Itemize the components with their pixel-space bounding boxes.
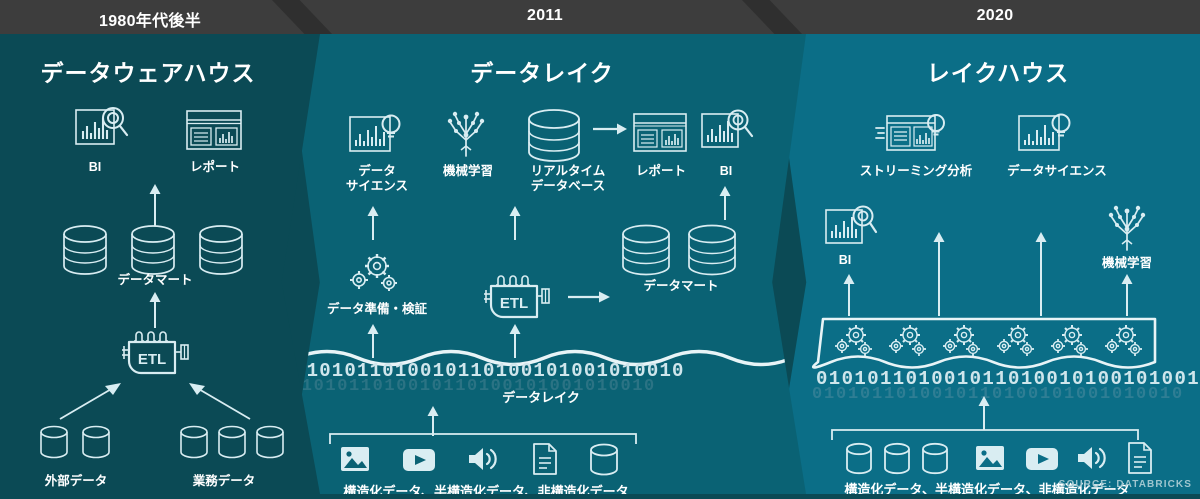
- label-data-science: データ サイエンス: [332, 164, 422, 194]
- panel-title-lakehouse: レイクハウス: [772, 54, 1200, 88]
- label-datamart: データマート: [623, 279, 739, 294]
- document-icon: [1127, 442, 1153, 474]
- etl-text: ETL: [500, 295, 528, 312]
- database-icon: [80, 424, 112, 462]
- streaming-dashboard-lightbulb-icon: [875, 112, 947, 158]
- arrow-up-icon: [842, 274, 856, 316]
- arrow-up-icon: [366, 206, 380, 240]
- arrow-up-icon: [148, 292, 162, 328]
- year-label-1980s: 1980年代後半: [0, 7, 300, 31]
- source-bracket: [830, 428, 1140, 440]
- database-icon: [178, 424, 210, 462]
- label-datamart: データマート: [95, 273, 215, 288]
- bi-chart-magnifier-icon: [73, 106, 129, 152]
- label-realtime-database: リアルタイム データベース: [513, 164, 623, 194]
- arrow-up-icon: [148, 184, 162, 226]
- arrow-up-icon: [1120, 274, 1134, 316]
- label-report: レポート: [622, 164, 700, 179]
- label-streaming-analytics: ストリーミング分析: [846, 164, 986, 179]
- panel-lakehouse: レイクハウス: [772, 34, 1200, 494]
- image-icon: [340, 446, 370, 472]
- label-bi: BI: [820, 253, 870, 268]
- bi-chart-magnifier-icon: [824, 204, 878, 250]
- arrow-up-icon: [977, 396, 991, 430]
- database-icon: [254, 424, 286, 462]
- neural-tree-icon: [1102, 204, 1152, 252]
- arrow-up-icon: [932, 232, 946, 316]
- audio-icon: [1075, 444, 1111, 472]
- etl-box-icon: ETL: [476, 272, 560, 326]
- database-icon: [844, 442, 874, 476]
- gears-icon: [344, 252, 406, 296]
- etl-text: ETL: [138, 351, 166, 368]
- arrow-right-icon: [568, 290, 610, 304]
- video-icon: [1025, 447, 1059, 471]
- source-attribution: SOURCE: DATABRICKS: [1059, 479, 1192, 490]
- database-cylinder-icon: [620, 224, 672, 276]
- arrow-diagonal-icon: [186, 379, 252, 421]
- video-icon: [402, 448, 436, 472]
- arrow-diagonal-icon: [58, 379, 124, 421]
- binary-row-2: 0101011010010110100101001010010: [812, 385, 1184, 404]
- database-cylinder-icon: [526, 108, 582, 162]
- arrow-up-icon: [508, 206, 522, 240]
- label-machine-learning: 機械学習: [1084, 256, 1170, 271]
- label-data-prep: データ準備・検証: [319, 302, 435, 317]
- database-icon: [38, 424, 70, 462]
- year-label-2020: 2020: [790, 7, 1200, 25]
- panel-data-lake: データレイク データ サイエンス: [286, 34, 806, 494]
- chart-lightbulb-icon: [348, 112, 404, 158]
- database-cylinder-icon: [686, 224, 738, 276]
- infographic-stage: 1980年代後半 2011 2020 データウェアハウス BI: [0, 0, 1200, 494]
- timeline-header: 1980年代後半 2011 2020: [0, 0, 1200, 34]
- database-cylinder-icon: [129, 224, 177, 276]
- neural-tree-icon: [440, 110, 492, 158]
- label-external-data: 外部データ: [23, 474, 129, 489]
- image-icon: [975, 445, 1005, 471]
- bi-chart-magnifier-icon: [700, 108, 754, 154]
- database-cylinder-icon: [197, 224, 245, 276]
- report-dashboard-icon: [185, 109, 243, 151]
- panel-title-data-warehouse: データウェアハウス: [0, 54, 320, 88]
- label-sources: 構造化データ、半構造化データ、非構造化データ: [306, 484, 666, 499]
- year-label-2011: 2011: [300, 7, 790, 25]
- document-icon: [532, 443, 558, 475]
- label-operational-data: 業務データ: [165, 474, 283, 489]
- label-bi: BI: [60, 160, 130, 175]
- arrow-right-icon: [593, 122, 627, 136]
- panel-title-data-lake: データレイク: [286, 54, 806, 88]
- report-dashboard-icon: [632, 112, 688, 154]
- arrow-up-icon: [1034, 232, 1048, 316]
- etl-box-icon: ETL: [113, 328, 199, 384]
- label-data-science: データサイエンス: [992, 164, 1122, 179]
- chart-lightbulb-icon: [1017, 112, 1075, 158]
- database-cylinder-icon: [61, 224, 109, 276]
- database-icon: [920, 442, 950, 476]
- arrow-up-icon: [718, 186, 732, 220]
- audio-icon: [466, 445, 502, 473]
- label-machine-learning: 機械学習: [428, 164, 508, 179]
- panel-data-warehouse: データウェアハウス BI: [0, 34, 320, 494]
- label-data-lake: データレイク: [476, 390, 606, 405]
- label-bi: BI: [696, 164, 756, 179]
- database-icon: [882, 442, 912, 476]
- database-icon: [588, 443, 620, 477]
- label-report: レポート: [172, 160, 258, 175]
- database-icon: [216, 424, 248, 462]
